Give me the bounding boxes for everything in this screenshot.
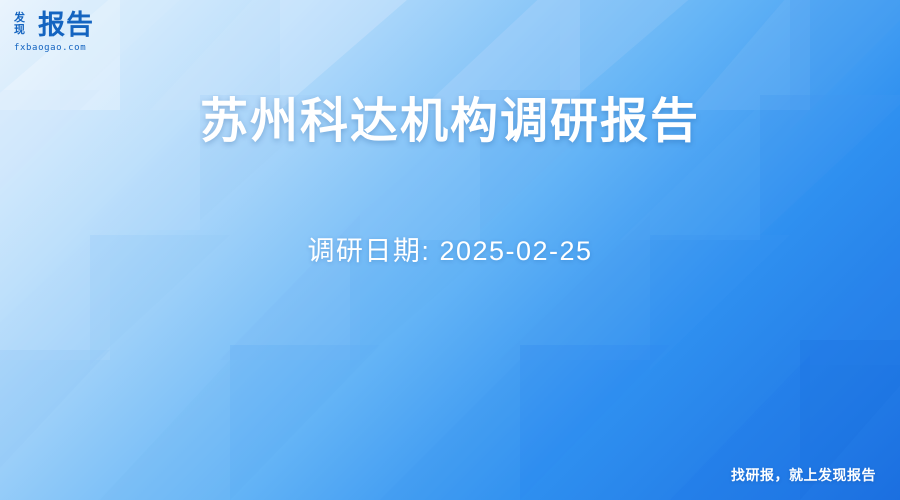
fxbaogao-logo[interactable]: 发 现 报告 fxbaogao.com — [14, 10, 132, 56]
title-slide: 发 现 报告 fxbaogao.com 苏州科达机构调研报告 调研日期: 202… — [0, 0, 900, 500]
footer-slogan: 找研报，就上发现报告 — [731, 466, 876, 484]
logo-wordmark: 报告 — [38, 10, 94, 40]
logo-domain: fxbaogao.com — [14, 43, 86, 53]
logo-mark-icon: 发 现 — [14, 12, 36, 36]
page-title: 苏州科达机构调研报告 — [0, 92, 900, 152]
logo-mark-line1: 发 — [14, 12, 25, 24]
page-subtitle: 调研日期: 2025-02-25 — [0, 232, 900, 270]
logo-mark-line2: 现 — [14, 24, 25, 36]
